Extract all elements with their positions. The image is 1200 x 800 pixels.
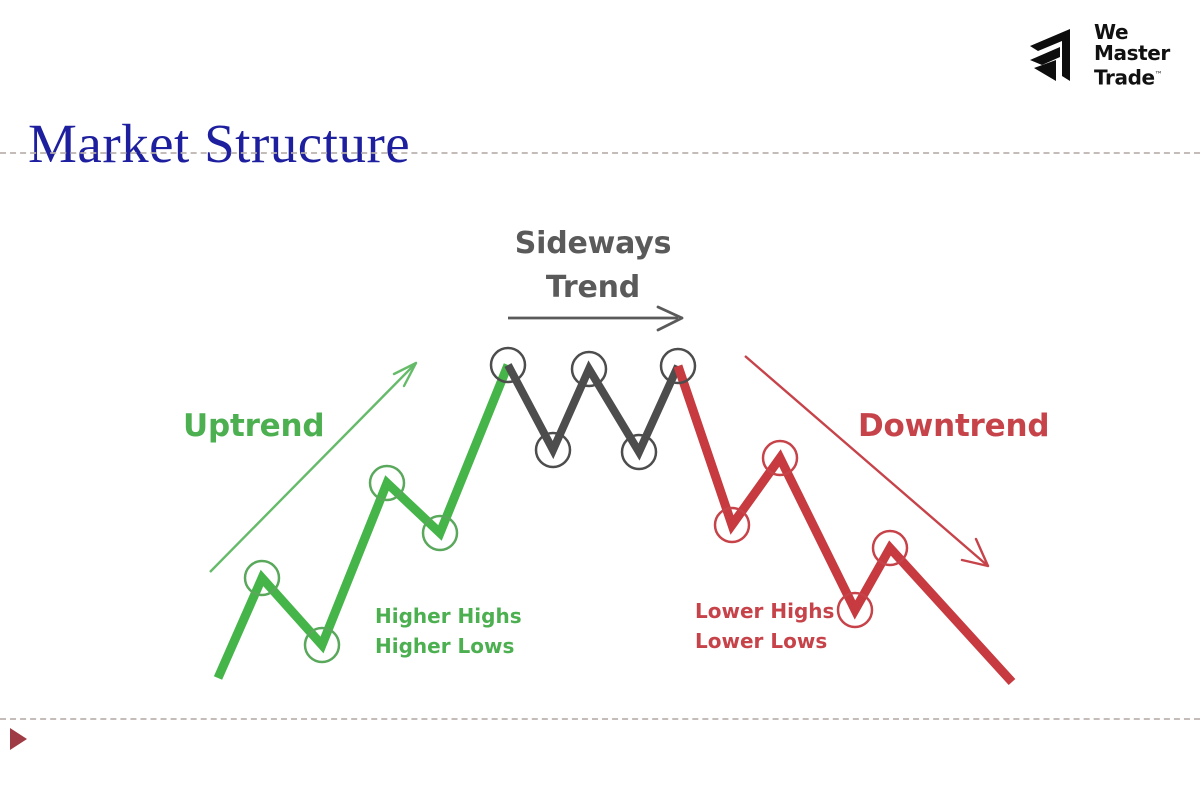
higher-highs-text: Higher Highs bbox=[375, 601, 522, 631]
we-master-trade-arrow-mark bbox=[1022, 24, 1084, 86]
brand-wordmark-line3-text: Trade bbox=[1094, 66, 1155, 90]
trademark-symbol: ™ bbox=[1155, 70, 1163, 79]
lower-highs-lows-label: Lower Highs Lower Lows bbox=[695, 596, 834, 656]
higher-highs-lows-label: Higher Highs Higher Lows bbox=[375, 601, 522, 661]
sideways-trend-label: Sideways Trend bbox=[513, 222, 673, 310]
sideways-arrow bbox=[508, 307, 682, 330]
brand-wordmark-line2: Master bbox=[1094, 43, 1190, 64]
lower-lows-text: Lower Lows bbox=[695, 626, 834, 656]
higher-lows-text: Higher Lows bbox=[375, 631, 522, 661]
brand-wordmark-line3: Trade™ bbox=[1094, 64, 1190, 89]
brand-wordmark-line1: We bbox=[1094, 22, 1190, 43]
uptrend-label: Uptrend bbox=[183, 408, 324, 444]
uptrend-arrow bbox=[210, 363, 416, 572]
sideways-line bbox=[508, 365, 678, 452]
title-divider-top bbox=[0, 152, 1200, 154]
brand-logo[interactable]: We Master Trade™ bbox=[1022, 22, 1190, 94]
slide-canvas: Market Structure We Master Trade™ bbox=[0, 0, 1200, 800]
downtrend-label: Downtrend bbox=[858, 408, 1049, 444]
footer-divider-bottom bbox=[0, 718, 1200, 720]
play-triangle-icon[interactable] bbox=[10, 728, 27, 750]
lower-highs-text: Lower Highs bbox=[695, 596, 834, 626]
sideways-trend-label-line1: Sideways bbox=[513, 222, 673, 266]
sideways-trend-label-line2: Trend bbox=[513, 266, 673, 310]
brand-wordmark: We Master Trade™ bbox=[1094, 22, 1190, 89]
